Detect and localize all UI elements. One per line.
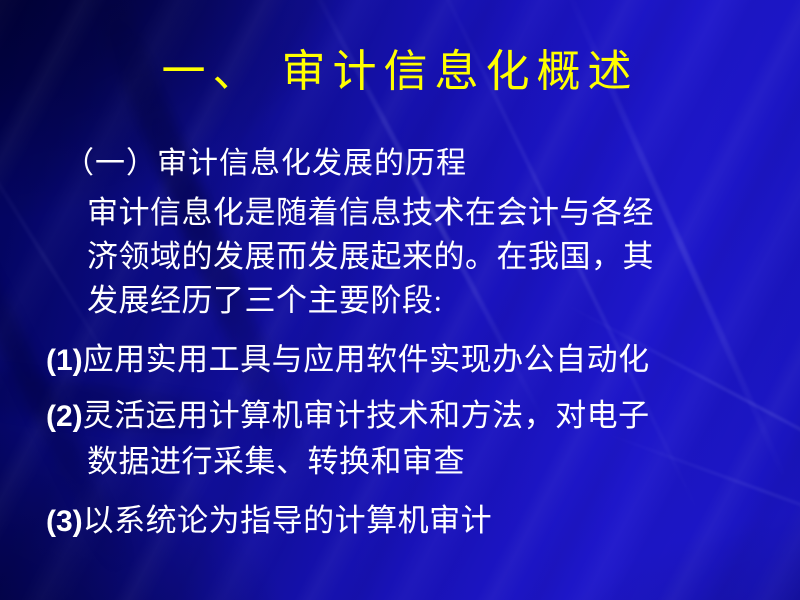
slide-content: 一、 审计信息化概述 （一）审计信息化发展的历程 审计信息化是随着信息技术在会计…: [0, 0, 800, 600]
paragraph-line-3: 发展经历了三个主要阶段:: [87, 279, 800, 323]
list-item-3: (3)以系统论为指导的计算机审计: [46, 498, 800, 544]
section-subheading: （一）审计信息化发展的历程: [64, 143, 800, 185]
presentation-slide: 一、 审计信息化概述 （一）审计信息化发展的历程 审计信息化是随着信息技术在会计…: [0, 0, 800, 600]
slide-body: （一）审计信息化发展的历程 审计信息化是随着信息技术在会计与各经 济领域的发展而…: [0, 143, 800, 544]
list-item-1-text: 应用实用工具与应用软件实现办公自动化: [83, 342, 650, 377]
list-item-1: (1)应用实用工具与应用软件实现办公自动化: [46, 337, 800, 383]
spacer: [0, 323, 800, 337]
list-item-2: (2)灵活运用计算机审计技术和方法，对电子: [46, 393, 800, 439]
spacer: [0, 383, 800, 393]
paragraph-line-1: 审计信息化是随着信息技术在会计与各经: [87, 191, 800, 235]
list-item-2-continuation: 数据进行采集、转换和审查: [87, 439, 800, 484]
list-item-3-text: 以系统论为指导的计算机审计: [83, 503, 493, 538]
list-item-2-text: 灵活运用计算机审计技术和方法，对电子: [83, 398, 650, 433]
list-item-1-marker: (1): [46, 344, 83, 377]
list-item-3-marker: (3): [46, 505, 83, 538]
paragraph-line-2: 济领域的发展而发展起来的。在我国，其: [87, 235, 800, 279]
list-item-2-marker: (2): [46, 400, 83, 433]
slide-title: 一、 审计信息化概述: [0, 44, 800, 100]
spacer: [0, 484, 800, 498]
